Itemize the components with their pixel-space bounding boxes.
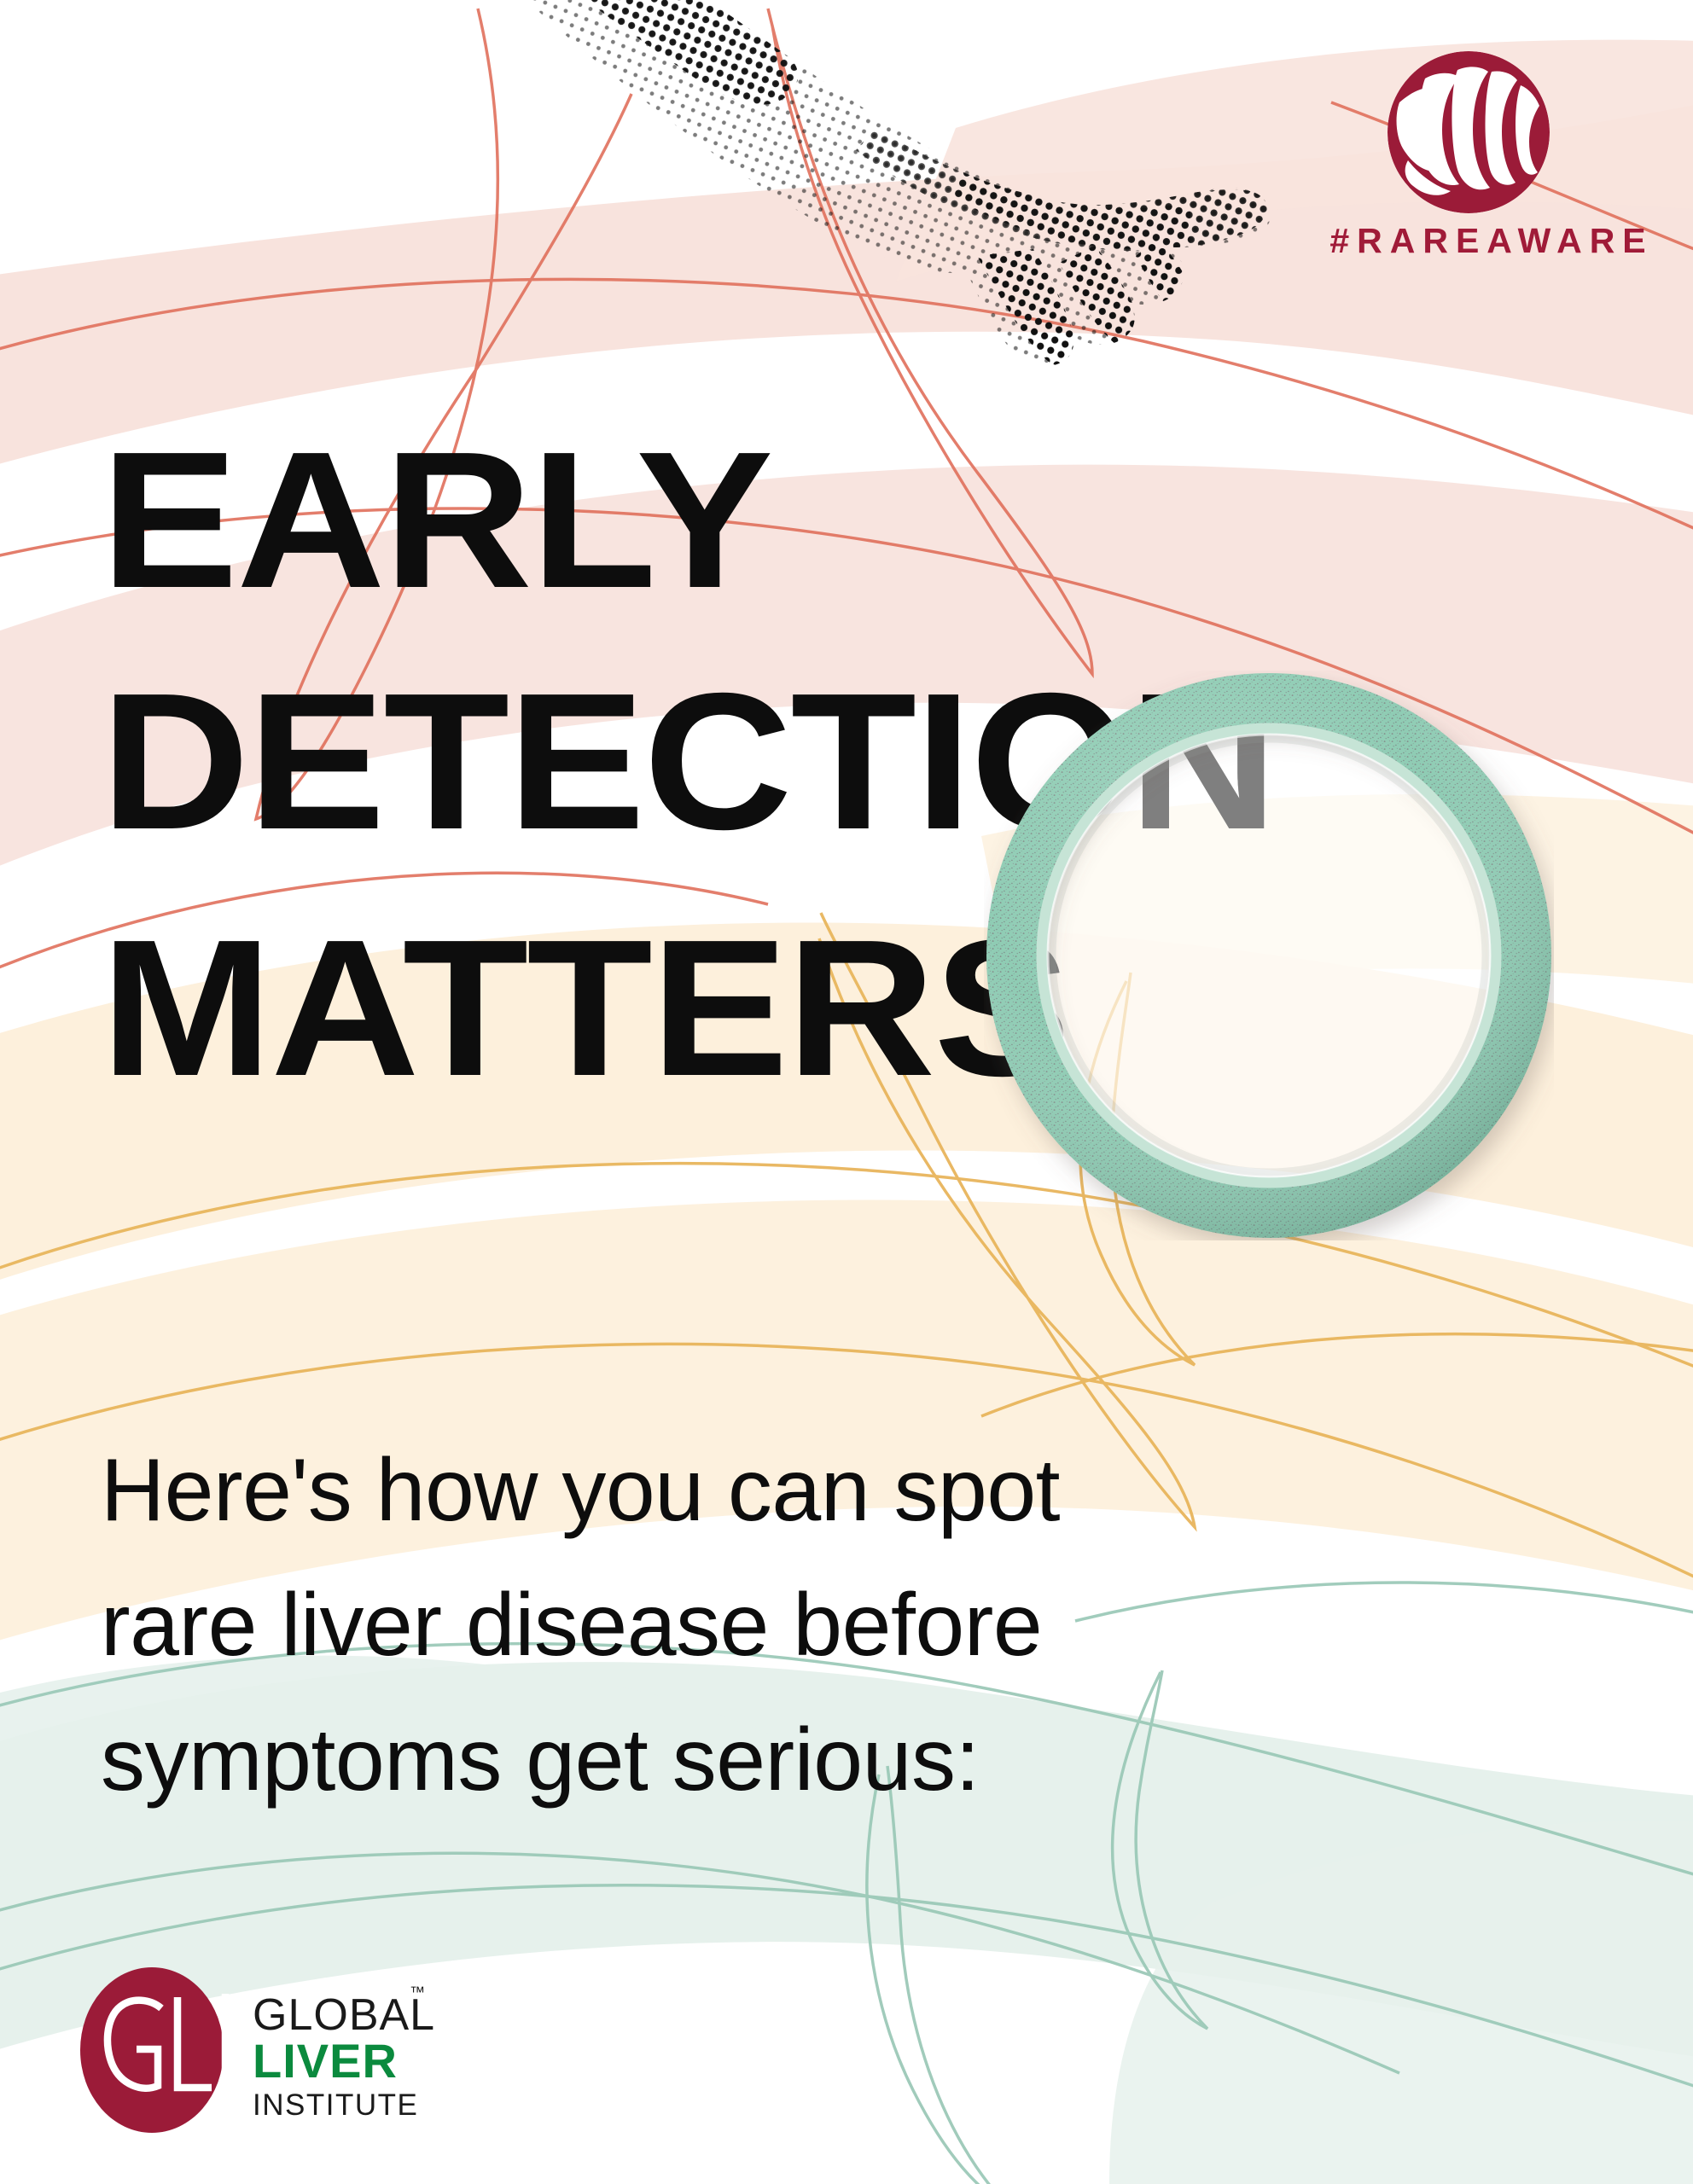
gli-word-institute: INSTITUTE	[253, 2088, 418, 2122]
subcopy-block: Here's how you can spot rare liver disea…	[101, 1423, 1381, 1827]
gli-word-global: GLOBAL	[253, 1990, 435, 2040]
rareaware-hashtag: #RAREAWARE	[1321, 224, 1662, 258]
subcopy-line-3: symptoms get serious:	[101, 1693, 1381, 1827]
headline-line-3: MATTERS	[101, 915, 1693, 1103]
headline-line-1: EARLY	[101, 427, 1693, 615]
rareaware-badge: #RAREAWARE	[1321, 43, 1662, 307]
subcopy-line-1: Here's how you can spot	[101, 1423, 1381, 1558]
zebra-stripe-circle-icon	[1388, 51, 1550, 213]
subcopy-line-2: rare liver disease before	[101, 1558, 1381, 1693]
gli-logo: GLOBAL ™ LIVER INSTITUTE	[75, 1958, 442, 2141]
pointing-hand-halftone-icon	[431, 0, 1361, 375]
gli-word-liver: LIVER	[253, 2034, 398, 2088]
gli-trademark: ™	[410, 1984, 425, 2001]
poster-canvas: #RAREAWARE EARLY DETECTION MATTERS EARLY…	[0, 0, 1693, 2184]
headline-line-2: DETECTION	[101, 668, 1693, 857]
headline-block: EARLY DETECTION MATTERS	[101, 427, 1637, 1120]
